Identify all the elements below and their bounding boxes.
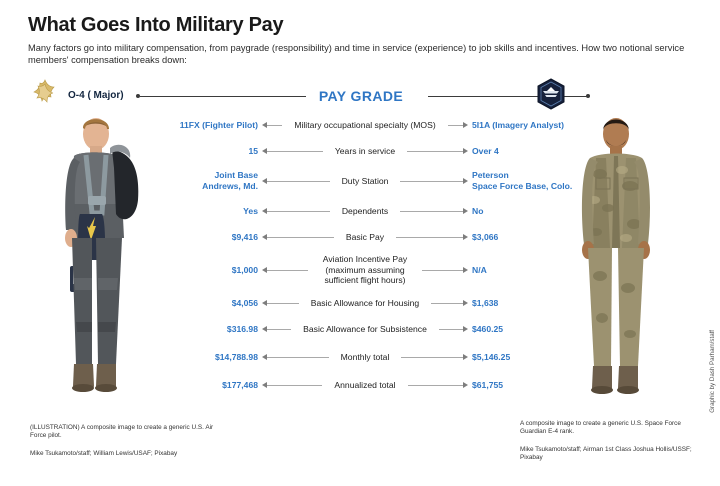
- row-left-value: Yes: [150, 206, 262, 217]
- arrow-left-icon: [262, 176, 335, 186]
- row-label: Annualized total: [327, 380, 402, 391]
- row-left-value: $177,468: [150, 380, 262, 391]
- row-right-value: Over 4: [468, 146, 580, 157]
- right-caption-credit: Mike Tsukamoto/staff; Airman 1st Class J…: [520, 446, 700, 463]
- arrow-left-icon: [262, 146, 328, 156]
- row-left-value: $4,056: [150, 298, 262, 309]
- connector-dot-right: [586, 94, 590, 98]
- arrow-left-icon: [262, 206, 335, 216]
- paygrade-header-row: O-4 ( Major) PAY GRADE: [28, 78, 694, 112]
- arrow-right-icon: [417, 265, 468, 275]
- row-left-value: 15: [150, 146, 262, 157]
- arrow-right-icon: [403, 380, 468, 390]
- comparison-row: $316.98Basic Allowance for Subsistence$4…: [150, 316, 580, 342]
- space-force-specialist-icon: [536, 78, 566, 110]
- row-label: Years in service: [328, 146, 402, 157]
- left-photo-caption: (ILLUSTRATION) A composite image to crea…: [30, 424, 230, 458]
- page-title: What Goes Into Military Pay: [28, 14, 283, 37]
- row-connector-group: Annualized total: [262, 376, 468, 394]
- row-label: Basic Allowance for Housing: [304, 298, 426, 309]
- row-left-value: $9,416: [150, 232, 262, 243]
- left-caption-text: (ILLUSTRATION) A composite image to crea…: [30, 424, 230, 441]
- row-connector-group: Basic Allowance for Subsistence: [262, 320, 468, 338]
- row-label: Aviation Incentive Pay(maximum assumings…: [313, 254, 417, 286]
- row-right-value: $460.25: [468, 324, 580, 335]
- arrow-left-icon: [262, 324, 296, 334]
- infographic-page: What Goes Into Military Pay Many factors…: [0, 0, 720, 486]
- row-right-value: No: [468, 206, 580, 217]
- arrow-right-icon: [443, 120, 468, 130]
- arrow-left-icon: [262, 380, 327, 390]
- arrow-left-icon: [262, 265, 313, 275]
- row-connector-group: Duty Station: [262, 172, 468, 190]
- comparison-row: $14,788.98Monthly total$5,146.25: [150, 342, 580, 372]
- row-left-value: $1,000: [150, 265, 262, 276]
- arrow-right-icon: [391, 232, 468, 242]
- air-force-pilot-photo: [40, 108, 152, 408]
- graphic-credit: Graphic by Dash Parham/staff: [709, 330, 716, 413]
- arrow-left-icon: [262, 298, 304, 308]
- row-left-value: $14,788.98: [150, 352, 262, 363]
- row-label: Basic Allowance for Subsistence: [296, 324, 434, 335]
- row-left-value: 11FX (Fighter Pilot): [150, 120, 262, 131]
- comparison-row: 15Years in serviceOver 4: [150, 138, 580, 164]
- arrow-left-icon: [262, 232, 339, 242]
- comparison-row: $9,416Basic Pay$3,066: [150, 224, 580, 250]
- comparison-rows: 11FX (Fighter Pilot)Military occupationa…: [150, 112, 580, 398]
- row-right-value: $5,146.25: [468, 352, 580, 363]
- arrow-right-icon: [396, 352, 468, 362]
- arrow-left-icon: [262, 120, 287, 130]
- comparison-row: $4,056Basic Allowance for Housing$1,638: [150, 290, 580, 316]
- comparison-row: 11FX (Fighter Pilot)Military occupationa…: [150, 112, 580, 138]
- row-right-value: PetersonSpace Force Base, Colo.: [468, 170, 580, 192]
- comparison-row: Joint BaseAndrews, Md.Duty StationPeters…: [150, 164, 580, 198]
- row-label: Military occupational specialty (MOS): [287, 120, 442, 131]
- arrow-right-icon: [434, 324, 468, 334]
- left-caption-credit: Mike Tsukamoto/staff; William Lewis/USAF…: [30, 450, 230, 458]
- comparison-row: $177,468Annualized total$61,755: [150, 372, 580, 398]
- arrow-right-icon: [395, 176, 468, 186]
- comparison-row: $1,000Aviation Incentive Pay(maximum ass…: [150, 250, 580, 290]
- arrow-right-icon: [395, 206, 468, 216]
- row-left-value: $316.98: [150, 324, 262, 335]
- right-photo-caption: A composite image to create a generic U.…: [520, 420, 700, 463]
- row-connector-group: Basic Pay: [262, 228, 468, 246]
- row-right-value: N/A: [468, 265, 580, 276]
- row-right-value: 5I1A (Imagery Analyst): [468, 120, 580, 131]
- arrow-left-icon: [262, 352, 334, 362]
- row-connector-group: Military occupational specialty (MOS): [262, 116, 468, 134]
- row-right-value: $61,755: [468, 380, 580, 391]
- row-connector-group: Years in service: [262, 142, 468, 160]
- row-connector-group: Aviation Incentive Pay(maximum assumings…: [262, 254, 468, 286]
- row-label: Duty Station: [335, 176, 396, 187]
- page-subtitle: Many factors go into military compensati…: [28, 42, 688, 66]
- row-label: Dependents: [335, 206, 395, 217]
- row-label: Monthly total: [334, 352, 397, 363]
- row-right-value: $3,066: [468, 232, 580, 243]
- row-connector-group: Dependents: [262, 202, 468, 220]
- row-right-value: $1,638: [468, 298, 580, 309]
- arrow-right-icon: [426, 298, 468, 308]
- row-connector-group: Basic Allowance for Housing: [262, 294, 468, 312]
- paygrade-center-label: PAY GRADE: [28, 88, 694, 104]
- comparison-row: YesDependentsNo: [150, 198, 580, 224]
- right-caption-text: A composite image to create a generic U.…: [520, 420, 700, 437]
- arrow-right-icon: [402, 146, 468, 156]
- row-left-value: Joint BaseAndrews, Md.: [150, 170, 262, 192]
- row-connector-group: Monthly total: [262, 348, 468, 366]
- row-label: Basic Pay: [339, 232, 391, 243]
